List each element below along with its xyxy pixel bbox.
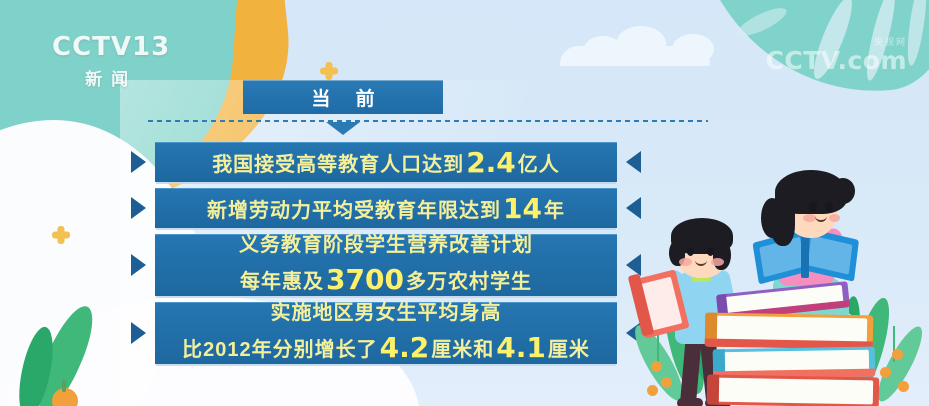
statistic-line: 新增劳动力平均受教育年限达到14年: [207, 192, 565, 225]
statistic-row: 新增劳动力平均受教育年限达到14年: [131, 188, 641, 228]
statistic-text: 新增劳动力平均受教育年限达到: [207, 200, 501, 222]
row-arrow-right-icon: [131, 197, 146, 219]
plus-icon: [52, 226, 70, 244]
book-orange-stack: [705, 313, 874, 350]
fruit-stem: [62, 380, 66, 392]
statistic-bar-nutrition-improvement-plan: 义务教育阶段学生营养改善计划每年惠及3700多万农村学生: [155, 234, 617, 296]
title-down-arrow-icon: [326, 122, 360, 135]
statistic-text: 每年惠及: [240, 271, 324, 293]
statistic-line: 比2012年分别增长了4.2厘米和4.1厘米: [182, 328, 590, 369]
berry-icon: [892, 349, 903, 360]
statistic-text: 我国接受高等教育人口达到: [212, 154, 464, 176]
statistic-row: 实施地区男女生平均身高比2012年分别增长了4.2厘米和4.1厘米: [131, 302, 641, 364]
highlight-number: 3700: [324, 263, 406, 296]
statistic-line: 义务教育阶段学生营养改善计划: [239, 231, 533, 260]
watermark: 央视网 CCTV.com: [766, 33, 907, 73]
watermark-main-label: CCTV.com: [766, 48, 907, 73]
statistic-text: 义务教育阶段学生营养改善计划: [239, 234, 533, 256]
broadcast-graphic: CCTV13 新闻 央视网 CCTV.com 当 前 我国接受高等教育人口达到2…: [0, 0, 929, 406]
channel-number: 13: [132, 32, 170, 62]
statistic-line: 实施地区男女生平均身高: [271, 299, 502, 328]
statistic-bar-average-height-growth: 实施地区男女生平均身高比2012年分别增长了4.2厘米和4.1厘米: [155, 302, 617, 364]
highlight-number: 14: [501, 192, 544, 225]
channel-logo-text: CCTV: [52, 32, 132, 62]
row-arrow-right-icon: [131, 322, 146, 344]
statistic-bar-average-years-of-schooling: 新增劳动力平均受教育年限达到14年: [155, 188, 617, 228]
book-stack: [707, 274, 887, 406]
statistic-line: 每年惠及3700多万农村学生: [240, 260, 532, 301]
illustration-children-reading: [629, 136, 929, 406]
title-block: 当 前: [243, 80, 443, 114]
highlight-number: 4.2: [378, 331, 432, 364]
statistic-text: 年: [544, 200, 565, 222]
highlight-number: 4.1: [494, 331, 548, 364]
statistic-text: 多万农村学生: [406, 271, 532, 293]
statistic-text: 实施地区男女生平均身高: [271, 302, 502, 324]
page-title: 当 前: [243, 80, 443, 114]
statistic-line: 我国接受高等教育人口达到2.4亿人: [212, 146, 560, 179]
plus-icon: [320, 62, 338, 80]
berry-icon: [898, 381, 909, 392]
statistic-row: 我国接受高等教育人口达到2.4亿人: [131, 142, 641, 182]
channel-logo: CCTV13 新闻: [52, 34, 170, 90]
statistic-text: 亿人: [518, 154, 560, 176]
title-dotted-divider: [148, 120, 708, 122]
book-red-stack: [707, 375, 879, 406]
statistic-text: 比2012年分别增长了: [182, 339, 378, 361]
statistic-bar-higher-education-population: 我国接受高等教育人口达到2.4亿人: [155, 142, 617, 182]
row-arrow-right-icon: [131, 151, 146, 173]
cloud-icon: [672, 34, 714, 64]
statistics-list: 我国接受高等教育人口达到2.4亿人新增劳动力平均受教育年限达到14年义务教育阶段…: [131, 142, 641, 370]
highlight-number: 2.4: [464, 146, 518, 179]
statistic-row: 义务教育阶段学生营养改善计划每年惠及3700多万农村学生: [131, 234, 641, 296]
row-arrow-right-icon: [131, 254, 146, 276]
channel-sub-label: 新闻: [52, 65, 170, 90]
statistic-text: 厘米和: [431, 339, 494, 361]
statistic-text: 厘米: [548, 339, 590, 361]
